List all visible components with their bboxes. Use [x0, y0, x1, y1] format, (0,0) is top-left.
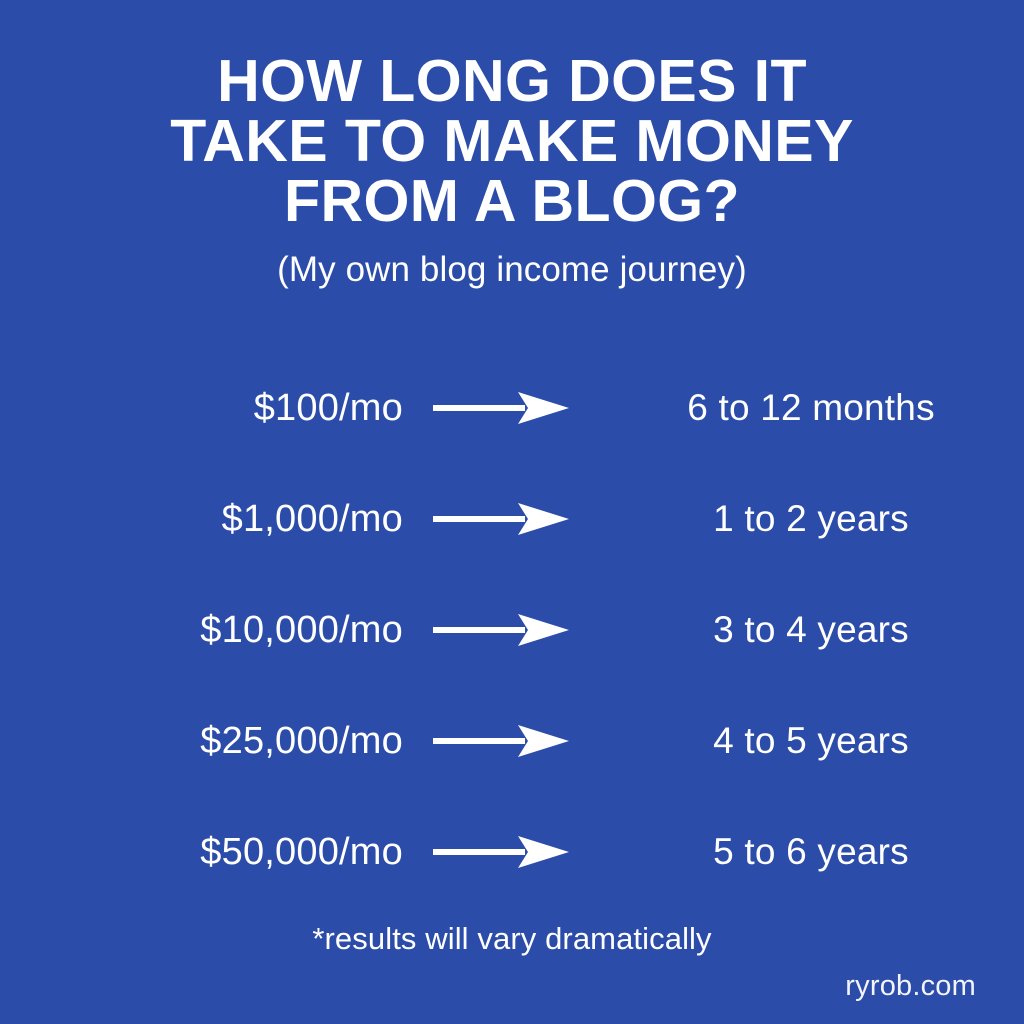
arrow-right-icon: [403, 391, 598, 425]
duration-label: 3 to 4 years: [598, 608, 1024, 652]
arrow-right-icon: [403, 613, 598, 647]
income-label: $25,000/mo: [0, 719, 403, 763]
list-item: $50,000/mo 5 to 6 years: [0, 796, 1024, 907]
infographic-canvas: HOW LONG DOES IT TAKE TO MAKE MONEY FROM…: [0, 0, 1024, 1024]
duration-label: 4 to 5 years: [598, 719, 1024, 763]
page-title-line-2: TAKE TO MAKE MONEY: [0, 112, 1024, 171]
footnote-disclaimer: *results will vary dramatically: [0, 920, 1024, 958]
duration-label: 6 to 12 months: [598, 386, 1024, 430]
page-title-line-1: HOW LONG DOES IT: [0, 52, 1024, 111]
page-title-line-3: FROM A BLOG?: [0, 172, 1024, 231]
list-item: $1,000/mo 1 to 2 years: [0, 463, 1024, 574]
page-title: HOW LONG DOES IT TAKE TO MAKE MONEY FROM…: [0, 52, 1024, 231]
arrow-right-icon: [403, 724, 598, 758]
page-subtitle: (My own blog income journey): [0, 249, 1024, 291]
arrow-right-icon: [403, 835, 598, 869]
list-item: $100/mo 6 to 12 months: [0, 352, 1024, 463]
duration-label: 1 to 2 years: [598, 497, 1024, 541]
list-item: $10,000/mo 3 to 4 years: [0, 574, 1024, 685]
list-item: $25,000/mo 4 to 5 years: [0, 685, 1024, 796]
income-label: $10,000/mo: [0, 608, 403, 652]
attribution-watermark: ryrob.com: [845, 968, 976, 1004]
income-label: $100/mo: [0, 386, 403, 430]
income-label: $1,000/mo: [0, 497, 403, 541]
income-timeline-list: $100/mo 6 to 12 months $1,000/mo 1 to 2 …: [0, 352, 1024, 907]
arrow-right-icon: [403, 502, 598, 536]
duration-label: 5 to 6 years: [598, 830, 1024, 874]
income-label: $50,000/mo: [0, 830, 403, 874]
